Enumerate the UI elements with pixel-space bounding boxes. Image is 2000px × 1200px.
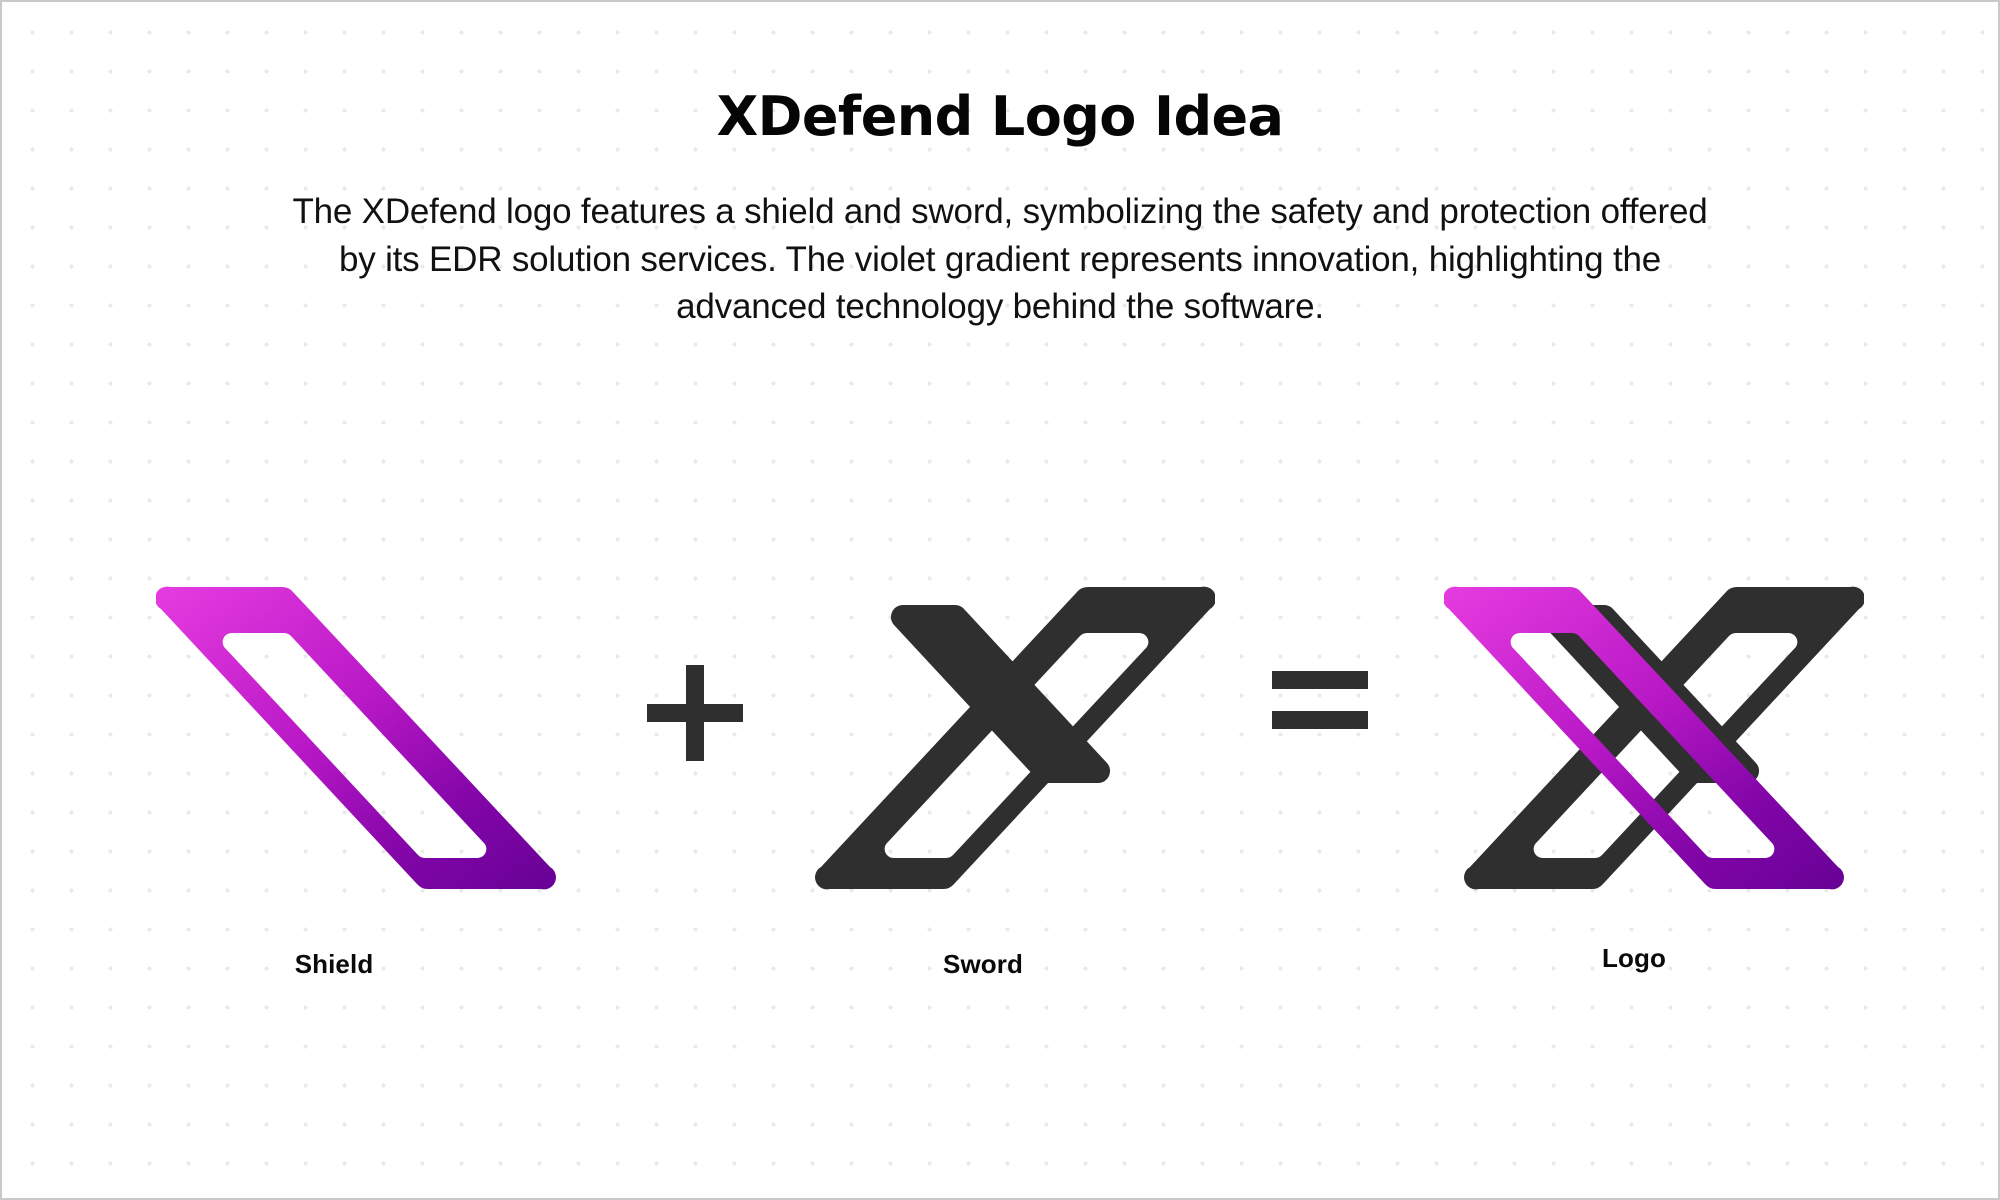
composition-item-sword: Sword bbox=[805, 577, 1205, 980]
operator-equals bbox=[1245, 577, 1395, 985]
logo-icon bbox=[1444, 577, 1864, 907]
shield-label: Shield bbox=[295, 949, 374, 980]
header: XDefend Logo Idea The XDefend logo featu… bbox=[2, 88, 1998, 330]
logo-composition: Shield Sword bbox=[2, 577, 1998, 1047]
composition-item-logo: Logo bbox=[1439, 577, 1869, 974]
operator-plus bbox=[625, 577, 765, 985]
equals-icon bbox=[1272, 665, 1368, 735]
slide-canvas: XDefend Logo Idea The XDefend logo featu… bbox=[0, 0, 2000, 1200]
plus-icon bbox=[647, 665, 743, 761]
shield-icon bbox=[156, 577, 576, 907]
logo-label: Logo bbox=[1602, 943, 1666, 974]
composition-item-shield: Shield bbox=[151, 577, 581, 980]
page-title: XDefend Logo Idea bbox=[2, 88, 1998, 146]
page-description: The XDefend logo features a shield and s… bbox=[285, 188, 1715, 330]
sword-icon bbox=[795, 577, 1215, 907]
sword-label: Sword bbox=[943, 949, 1023, 980]
